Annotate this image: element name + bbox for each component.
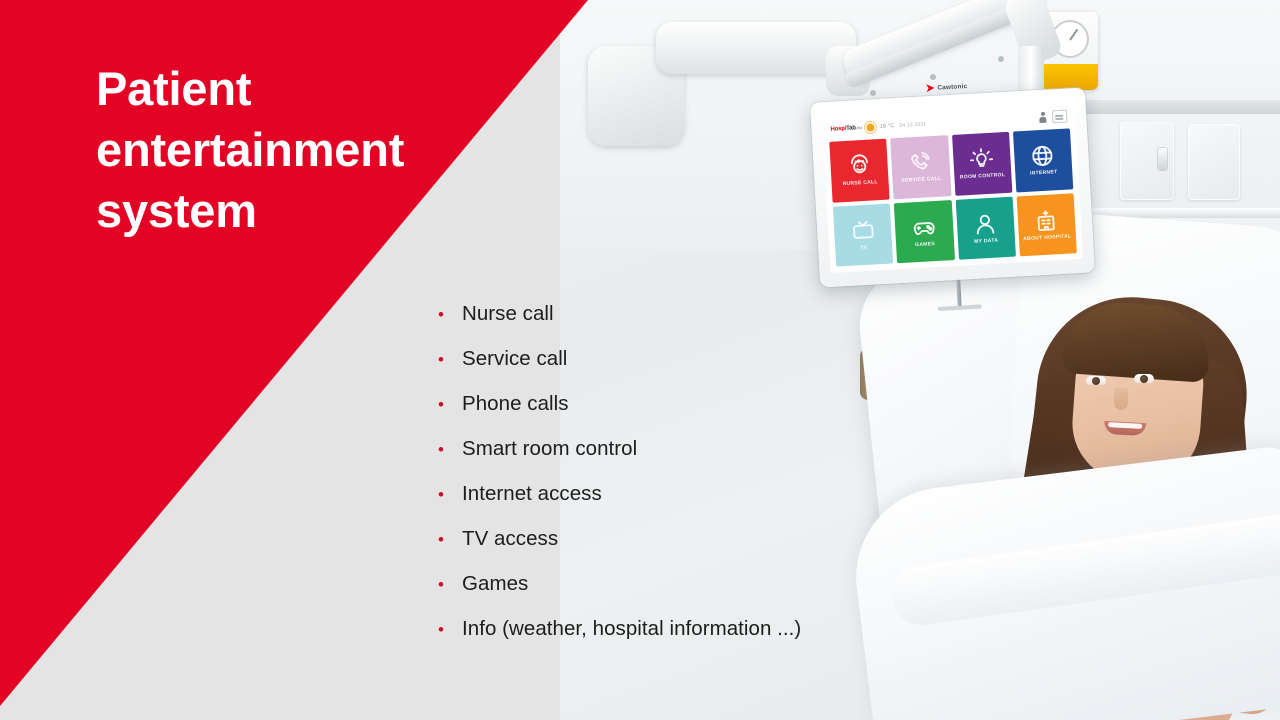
- tile-service-call[interactable]: SERVICE CALL: [890, 135, 951, 199]
- tile-label: GAMES: [915, 242, 935, 249]
- bullet-marker: •: [438, 394, 462, 413]
- list-item-label: Nurse call: [462, 303, 554, 326]
- tablet-tile-grid[interactable]: NURSE CALL SERVICE CALL ROOM CONTROL: [829, 128, 1077, 266]
- tile-label: SERVICE CALL: [901, 177, 941, 185]
- wall-panel: [1188, 124, 1240, 200]
- bullet-marker: •: [438, 439, 462, 458]
- tile-label: ROOM CONTROL: [960, 173, 1006, 181]
- tile-label: INTERNET: [1030, 170, 1058, 177]
- bullet-marker: •: [438, 484, 462, 503]
- list-item: •Service call: [438, 348, 958, 393]
- bullet-marker: •: [438, 574, 462, 593]
- person-icon: [972, 210, 999, 237]
- globe-icon: [1029, 143, 1056, 170]
- tile-my-data[interactable]: MY DATA: [955, 196, 1016, 260]
- user-account-icon[interactable]: [1039, 112, 1047, 123]
- status-datetime: 24.12.2021: [899, 121, 926, 128]
- tv-icon: [849, 217, 876, 244]
- patient-eye: [1134, 374, 1154, 383]
- status-bar-right: [1039, 109, 1068, 124]
- slide-canvas: Cawtonic HospiTab.eu 18 °C 24.12.2021: [0, 0, 1280, 720]
- hospital-icon: [1033, 207, 1060, 234]
- list-item: •Smart room control: [438, 438, 958, 483]
- patient-eye: [1086, 376, 1106, 385]
- brand-logo-icon: [926, 84, 934, 92]
- feature-bullet-list: •Nurse call •Service call •Phone calls •…: [438, 303, 958, 663]
- list-item-label: Smart room control: [462, 438, 637, 461]
- list-item-label: Info (weather, hospital information ...): [462, 618, 801, 641]
- patient-iris: [1092, 377, 1100, 385]
- wall-outlet: [1158, 148, 1167, 170]
- list-item: •Games: [438, 573, 958, 618]
- tile-label: NURSE CALL: [843, 181, 879, 189]
- list-item-label: Phone calls: [462, 393, 569, 416]
- list-item-label: Service call: [462, 348, 567, 371]
- phone-icon: [907, 149, 934, 176]
- menu-icon[interactable]: [1052, 109, 1068, 123]
- weather-temperature: 18 °C: [880, 123, 895, 130]
- list-item-label: TV access: [462, 528, 558, 551]
- list-item: •Phone calls: [438, 393, 958, 438]
- tile-nurse-call[interactable]: NURSE CALL: [829, 139, 890, 203]
- bullet-marker: •: [438, 619, 462, 638]
- list-item-label: Internet access: [462, 483, 602, 506]
- nurse-icon: [846, 153, 873, 180]
- tile-internet[interactable]: INTERNET: [1013, 128, 1074, 192]
- list-item: •Nurse call: [438, 303, 958, 348]
- tile-room-control[interactable]: ROOM CONTROL: [952, 132, 1013, 196]
- bullet-marker: •: [438, 349, 462, 368]
- gamepad-icon: [910, 214, 937, 241]
- tile-label: TV: [860, 246, 867, 252]
- tile-label: ABOUT HOSPITAL: [1023, 234, 1072, 242]
- lightbulb-icon: [968, 146, 995, 173]
- list-item: •Internet access: [438, 483, 958, 528]
- list-item: •Info (weather, hospital information ...…: [438, 618, 958, 663]
- list-item-label: Games: [462, 573, 528, 596]
- list-item: •TV access: [438, 528, 958, 573]
- weather-sun-icon: [867, 123, 875, 131]
- patient-nose: [1114, 388, 1128, 410]
- tablet-screen[interactable]: HospiTab.eu 18 °C 24.12.2021 NURSE CA: [822, 106, 1083, 273]
- bullet-marker: •: [438, 529, 462, 548]
- hospitab-logo: HospiTab.eu: [830, 124, 862, 132]
- page-title: Patient entertainment system: [96, 58, 526, 241]
- patient-iris: [1140, 375, 1148, 383]
- tile-tv[interactable]: TV: [833, 203, 894, 267]
- tile-label: MY DATA: [974, 238, 998, 245]
- tablet-brand-name: Cawtonic: [937, 83, 967, 92]
- mount-screw: [998, 56, 1004, 62]
- bullet-marker: •: [438, 304, 462, 323]
- tile-games[interactable]: GAMES: [894, 200, 955, 264]
- tile-about-hospital[interactable]: ABOUT HOSPITAL: [1016, 193, 1077, 257]
- patient-tablet[interactable]: Cawtonic HospiTab.eu 18 °C 24.12.2021: [810, 87, 1095, 287]
